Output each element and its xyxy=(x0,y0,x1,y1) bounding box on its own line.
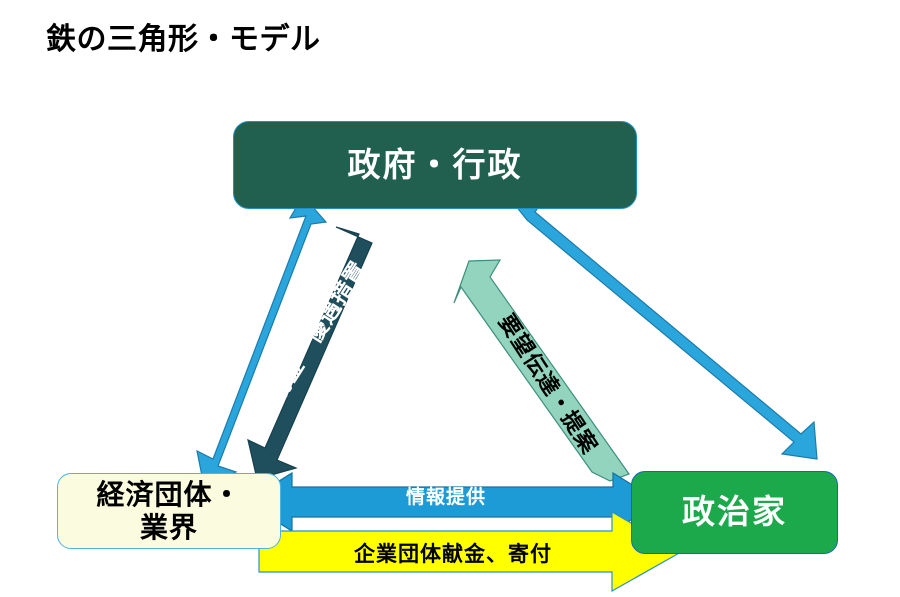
arrow-donation[interactable] xyxy=(259,512,681,591)
node-government[interactable]: 政府・行政 xyxy=(233,121,637,209)
arrow-politician-to-government[interactable] xyxy=(454,260,629,481)
node-politician[interactable]: 政治家 xyxy=(631,471,838,554)
node-politician-label: 政治家 xyxy=(682,493,787,532)
node-industry-label: 経済団体・ 業界 xyxy=(96,478,241,544)
node-industry-label-line1: 経済団体・ xyxy=(96,479,241,510)
node-industry[interactable]: 経済団体・ 業界 xyxy=(57,473,281,549)
arrow-industry-to-government[interactable] xyxy=(197,196,326,486)
diagram-canvas: 鉄の三角形・モデル 政府・行政 xyxy=(0,0,900,597)
arrow-government-to-industry[interactable] xyxy=(248,227,372,479)
arrow-industry-politician-info[interactable] xyxy=(245,473,660,531)
node-industry-label-line2: 業界 xyxy=(140,512,198,543)
node-government-label: 政府・行政 xyxy=(348,146,523,185)
